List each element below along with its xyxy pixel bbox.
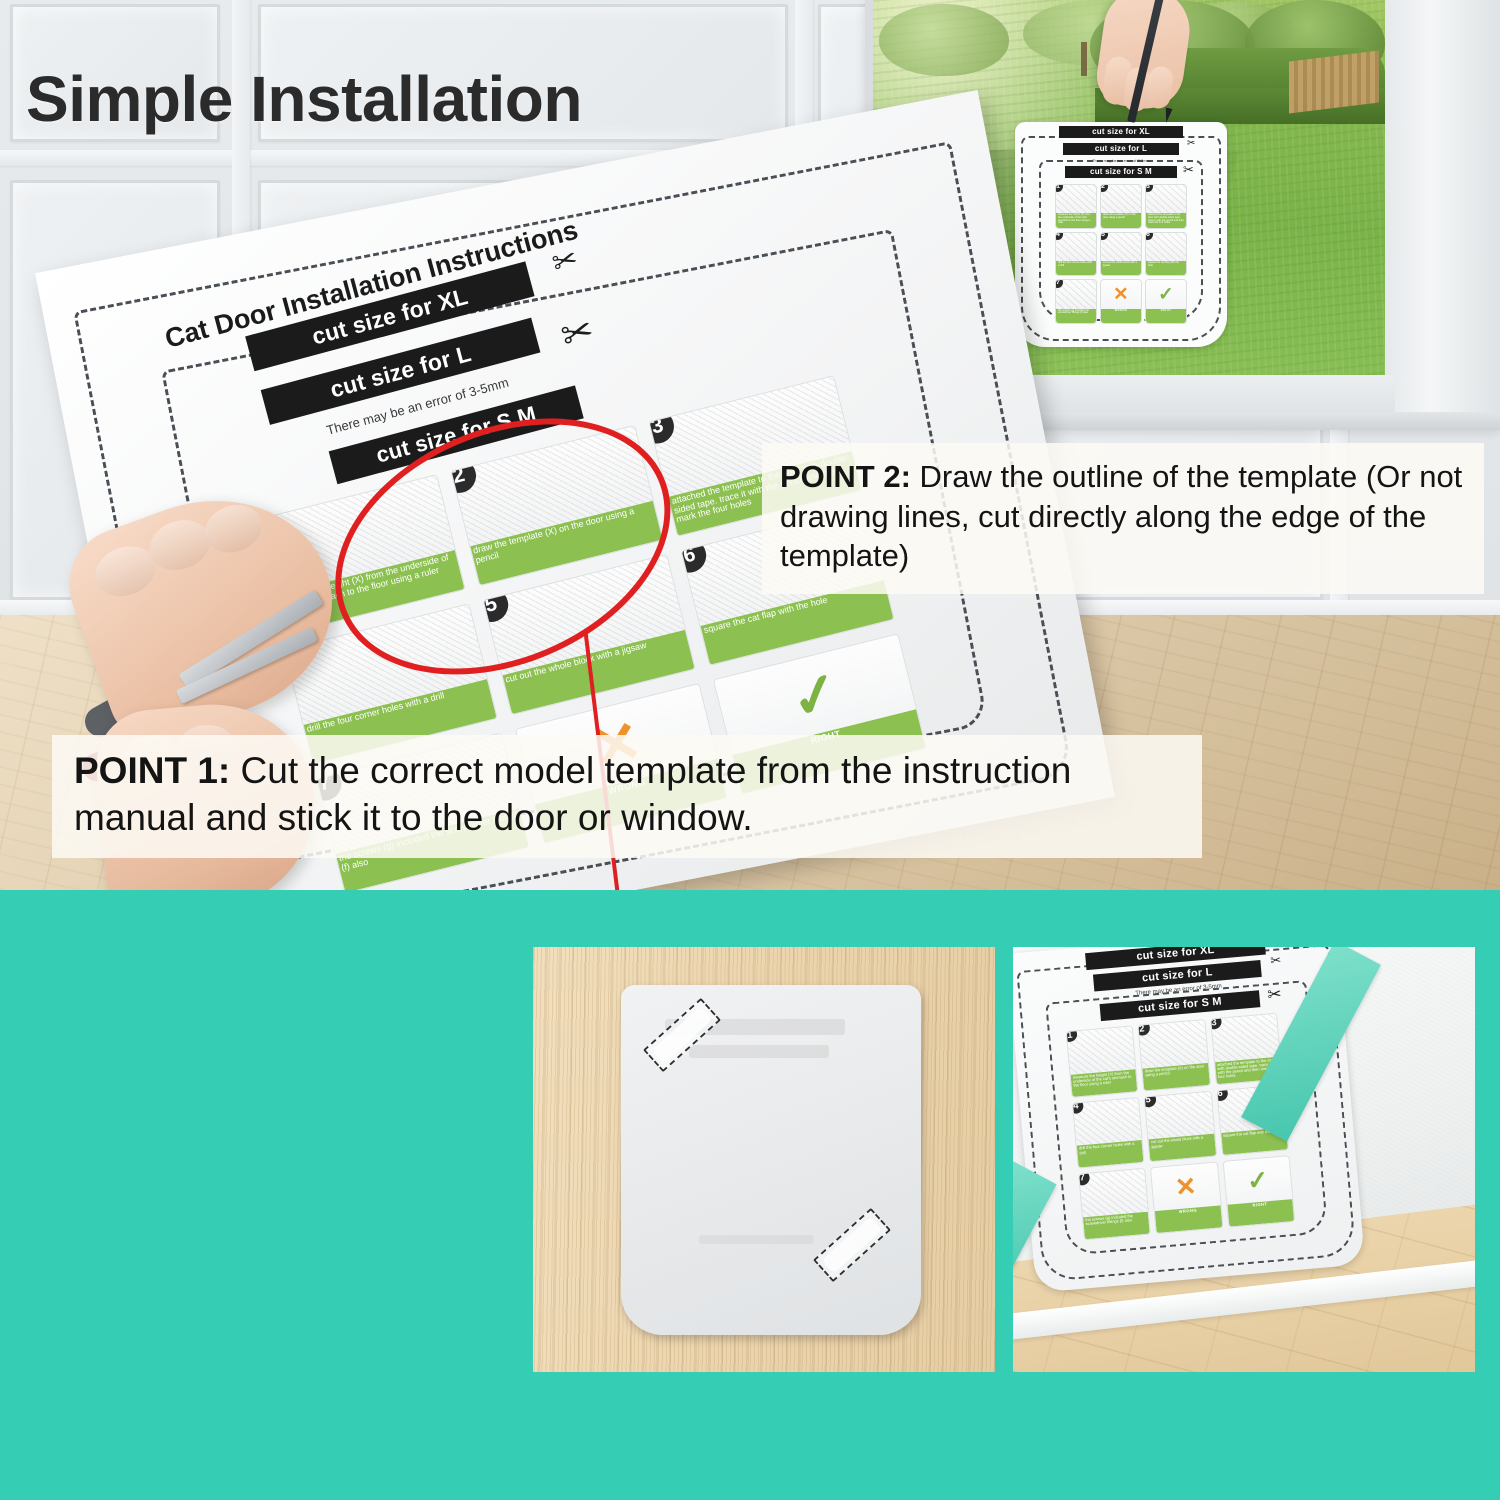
wall-tape-photo: cut size for XL cut size for L There may… <box>1013 947 1475 1372</box>
teal-divider <box>995 890 1013 1390</box>
step-caption: WRONG <box>1155 1205 1222 1233</box>
cut-size-l-bar: cut size for L <box>1063 143 1179 155</box>
error-note: There may be an error of 3-5mm <box>1059 158 1183 163</box>
cut-size-sm-bar: cut size for S M <box>1065 166 1177 178</box>
step-caption: RIGHT <box>1146 309 1186 324</box>
step-illustration: ✓ <box>1223 1157 1292 1205</box>
step-box: ✕WRONG <box>1100 279 1142 324</box>
step-caption: drill the four corner holes with a drill <box>1056 261 1096 276</box>
tree-trunk <box>1081 42 1087 76</box>
point-2-callout: POINT 2: Draw the outline of the templat… <box>762 443 1484 594</box>
point-1-callout: POINT 1: Cut the correct model template … <box>52 735 1202 858</box>
step-caption: cut out the whole block with a jigsaw <box>1149 1134 1216 1162</box>
step-box: ✕WRONG <box>1150 1162 1223 1234</box>
step-caption: the screws (g) included the screwdriver … <box>1083 1212 1150 1240</box>
scissors-icon: ✂ <box>1267 984 1283 1005</box>
step-caption: cut out the whole block with a jigsaw <box>1101 261 1141 276</box>
step-box: cut out the whole block with a jigsaw5 <box>1100 232 1142 277</box>
step-grid: measure the height (X) from the undersid… <box>1055 184 1187 324</box>
step-box: the screws (g) included the screwdriver … <box>1078 1168 1151 1240</box>
scissors-icon: ✂ <box>1270 952 1282 969</box>
step-illustration <box>1067 1026 1136 1074</box>
teal-top-edge <box>0 890 1500 947</box>
step-caption: square the cat flap with the hole <box>1146 261 1186 276</box>
faint-print <box>689 1045 829 1058</box>
step-illustration <box>1079 1169 1148 1217</box>
step-box: attached the template to the door with d… <box>1145 184 1187 229</box>
step-box: measure the height (X) from the undersid… <box>1055 184 1097 229</box>
scissors-icon: ✂ <box>1187 138 1195 149</box>
step-illustration: ✕ <box>1101 280 1141 308</box>
fence <box>1289 50 1379 113</box>
infographic-page: cut size for XL cut size for L There may… <box>0 0 1500 1500</box>
top-scene: cut size for XL cut size for L There may… <box>0 0 1500 890</box>
step-caption: measure the height (X) from the undersid… <box>1071 1069 1138 1097</box>
step-box: measure the height (X) from the undersid… <box>1066 1025 1139 1097</box>
cut-template <box>621 985 921 1335</box>
tree <box>879 4 1009 76</box>
step-caption: measure the height (X) from the undersid… <box>1056 213 1096 228</box>
step-caption: draw the template (X) on the door using … <box>1143 1063 1210 1091</box>
teal-footer-band <box>0 1372 1500 1500</box>
step-box: cut out the whole block with a jigsaw5 <box>1144 1090 1217 1162</box>
step-caption: drill the four corner holes with a drill <box>1077 1140 1144 1168</box>
step-caption: the screws (g) included the screwdriver … <box>1056 309 1096 324</box>
step-caption: RIGHT <box>1227 1199 1294 1227</box>
wood-door-photo <box>533 947 995 1372</box>
page-title: Simple Installation <box>26 62 582 136</box>
step-box: square the cat flap with the hole6 <box>1145 232 1187 277</box>
point-2-label: POINT 2: <box>780 459 911 494</box>
faint-print <box>699 1235 814 1244</box>
step-box: draw the template (X) on the door using … <box>1100 184 1142 229</box>
step-illustration: ✕ <box>1151 1163 1220 1211</box>
window-frame <box>1385 0 1500 430</box>
step-illustration: ✓ <box>1146 280 1186 308</box>
cut-size-xl-bar: cut size for XL <box>1059 126 1183 138</box>
teal-left-block <box>0 890 533 1390</box>
step-caption: draw the template (X) on the door using … <box>1101 213 1141 228</box>
step-caption: WRONG <box>1101 309 1141 324</box>
adhesive-strip-bottom <box>813 1208 891 1282</box>
step-box: drill the four corner holes with a drill… <box>1055 232 1097 277</box>
step-caption: attached the template to the door with d… <box>1146 213 1186 228</box>
adhesive-strip-inner <box>821 1216 882 1274</box>
scissors-icon: ✂ <box>1183 162 1194 178</box>
knuckle <box>198 497 268 560</box>
point-1-label: POINT 1: <box>74 750 230 791</box>
window-template: cut size for XL cut size for L There may… <box>1015 122 1227 347</box>
step-box: draw the template (X) on the door using … <box>1138 1019 1211 1091</box>
step-box: drill the four corner holes with a drill… <box>1072 1097 1145 1169</box>
teal-right-edge <box>1475 890 1500 1390</box>
adhesive-strip-top <box>643 998 721 1072</box>
step-illustration <box>1073 1098 1142 1146</box>
step-box: the screws (g) included the screwdriver … <box>1055 279 1097 324</box>
step-box: ✓RIGHT <box>1145 279 1187 324</box>
step-box: ✓RIGHT <box>1222 1155 1295 1227</box>
